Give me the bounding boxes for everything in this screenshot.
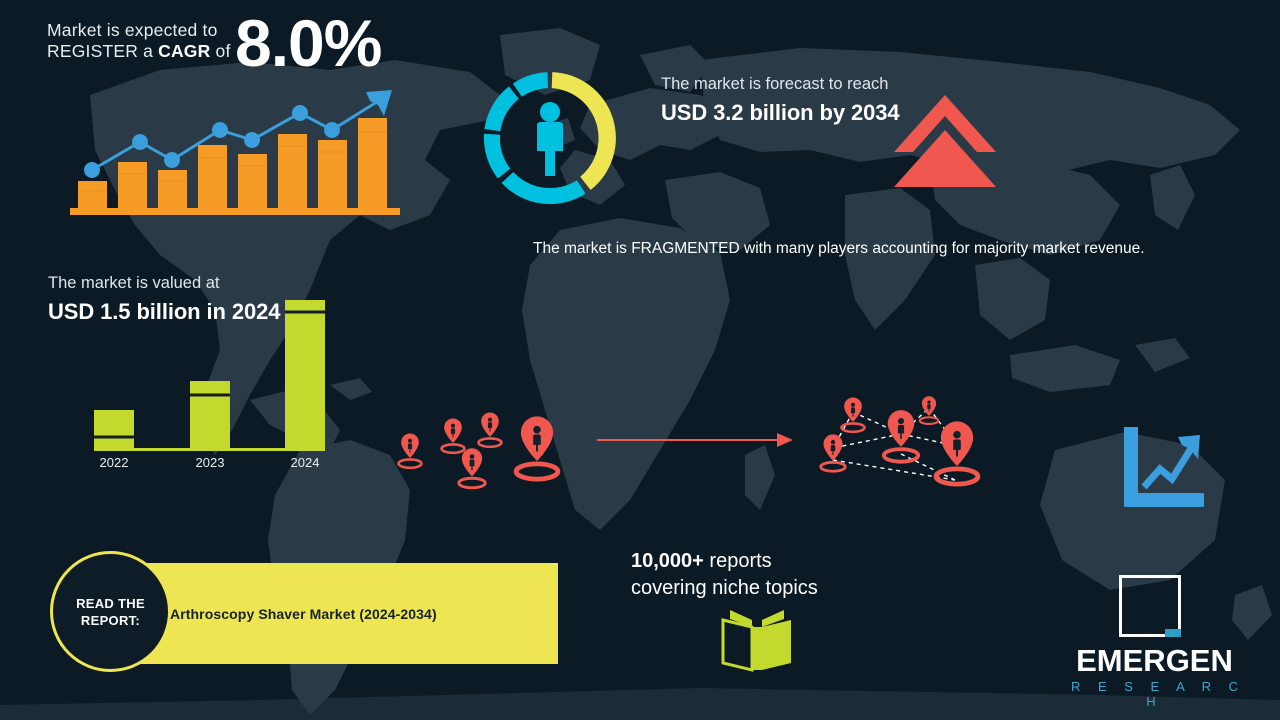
infographic-canvas: Market is expected to REGISTER a CAGR of… bbox=[0, 0, 1280, 720]
connected-location-pin-network-icon bbox=[805, 388, 1010, 500]
reports-line-1-rest: reports bbox=[704, 550, 772, 572]
cagr-value: 8.0% bbox=[235, 10, 381, 76]
forecast-block: The market is forecast to reach USD 3.2 … bbox=[661, 74, 901, 126]
forecast-lead: The market is forecast to reach bbox=[661, 74, 901, 95]
donut-slice-cyan-4 bbox=[513, 72, 548, 97]
market-share-donut bbox=[470, 52, 630, 224]
growth-trend-chart bbox=[70, 88, 415, 223]
year-label-2024: 2024 bbox=[291, 455, 320, 470]
read-report-banner[interactable]: Arthroscopy Shaver Market (2024-2034) bbox=[105, 563, 558, 664]
year-label-2022: 2022 bbox=[100, 455, 129, 470]
logo-accent bbox=[1165, 629, 1181, 637]
year-label-2023: 2023 bbox=[196, 455, 225, 470]
market-value-by-year-chart: 2022 2023 2024 bbox=[85, 295, 335, 470]
fragmented-statement: The market is FRAGMENTED with many playe… bbox=[533, 238, 1223, 260]
reports-line-1: 10,000+ reports bbox=[631, 548, 891, 575]
logo-square-icon bbox=[1119, 575, 1181, 637]
reports-block: 10,000+ reports covering niche topics bbox=[631, 548, 891, 602]
reports-count: 10,000+ bbox=[631, 550, 704, 572]
cagr-lead-part2: of bbox=[210, 41, 230, 61]
reports-line-2: covering niche topics bbox=[631, 575, 891, 602]
donut-slice-cyan-3 bbox=[484, 86, 518, 131]
cagr-lead-bold: CAGR bbox=[158, 41, 210, 61]
forecast-value: USD 3.2 billion by 2034 bbox=[661, 99, 901, 126]
report-title: Arthroscopy Shaver Market (2024-2034) bbox=[170, 563, 437, 664]
valued-lead: The market is valued at bbox=[48, 273, 298, 294]
year-axis-labels: 2022 2023 2024 bbox=[100, 455, 320, 470]
chart-baseline bbox=[70, 208, 400, 215]
read-the-report-label: READ THE REPORT: bbox=[53, 595, 168, 629]
growth-chart-icon bbox=[1118, 425, 1206, 513]
logo-subtitle: R E S E A R C H bbox=[1062, 679, 1247, 709]
year-bars bbox=[94, 300, 325, 450]
donut-slice-cyan-1 bbox=[502, 172, 586, 204]
person-icon bbox=[537, 102, 563, 176]
location-pin-cluster-icon bbox=[385, 385, 580, 490]
cagr-block: Market is expected to REGISTER a CAGR of… bbox=[47, 20, 467, 62]
cagr-lead-text: Market is expected to REGISTER a CAGR of bbox=[47, 20, 237, 62]
right-arrow-icon bbox=[597, 430, 797, 450]
year-chart-baseline bbox=[94, 448, 325, 451]
double-chevron-up-icon bbox=[893, 92, 998, 189]
trendline-arrowhead bbox=[366, 90, 392, 116]
open-book-icon bbox=[718, 610, 796, 672]
read-the-report-circle[interactable]: READ THE REPORT: bbox=[50, 551, 171, 672]
donut-slice-cyan-2 bbox=[484, 134, 510, 179]
chart-bars bbox=[78, 118, 387, 208]
logo-name: EMERGEN bbox=[1062, 643, 1247, 679]
